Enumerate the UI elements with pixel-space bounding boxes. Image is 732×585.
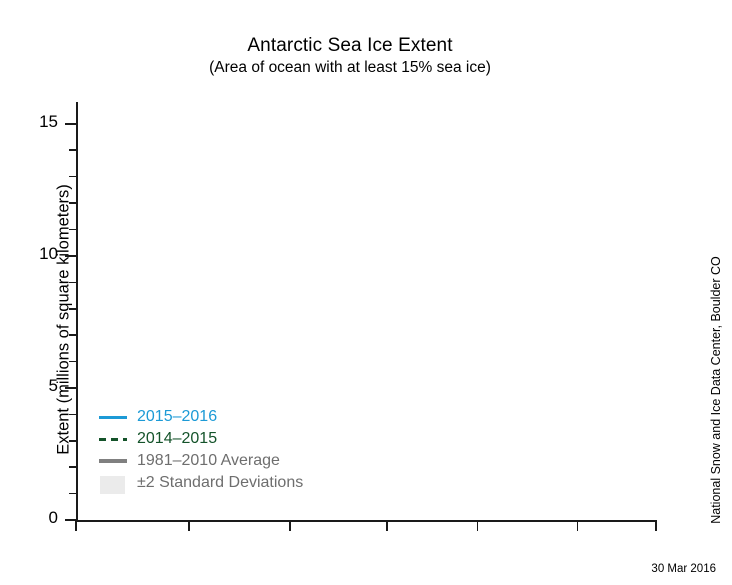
y-tick-label-15: 15 [18, 112, 58, 132]
y-tick-9 [69, 282, 76, 284]
x-axis-line [76, 520, 657, 522]
y-tick-10 [65, 255, 76, 257]
y-tick-13 [69, 176, 76, 178]
x-tick-3 [386, 520, 388, 531]
legend-swatch-band [98, 475, 128, 491]
y-tick-14 [69, 149, 76, 151]
y-tick-1 [69, 493, 76, 495]
y-tick-6 [69, 361, 76, 363]
y-axis-line [76, 102, 78, 520]
data-source-credit: National Snow and Ice Data Center, Bould… [709, 225, 723, 555]
y-tick-12 [69, 202, 76, 204]
chart-container: Antarctic Sea Ice Extent (Area of ocean … [0, 0, 732, 585]
y-tick-5 [65, 387, 76, 389]
legend-item-2015-2016: 2015–2016 [98, 406, 303, 428]
plot-area: 051015 2015–2016 2014–2015 [76, 108, 656, 520]
chart-legend: 2015–2016 2014–2015 1981–2010 Average ±2… [98, 406, 303, 494]
legend-item-average: 1981–2010 Average [98, 450, 303, 472]
legend-swatch-solid-gray [98, 453, 128, 469]
legend-label-average: 1981–2010 Average [137, 452, 280, 470]
x-tick-2 [289, 520, 291, 531]
x-tick-1 [188, 520, 190, 531]
y-tick-11 [69, 229, 76, 231]
y-tick-3 [69, 440, 76, 442]
date-stamp: 30 Mar 2016 [651, 563, 716, 575]
x-tick-4 [477, 520, 479, 531]
y-tick-4 [69, 414, 76, 416]
legend-swatch-dashed-green [98, 431, 128, 447]
x-tick-0 [75, 520, 77, 531]
legend-swatch-solid-blue [98, 409, 128, 425]
chart-title: Antarctic Sea Ice Extent [0, 34, 700, 58]
legend-item-stddev: ±2 Standard Deviations [98, 472, 303, 494]
legend-label-stddev: ±2 Standard Deviations [137, 474, 303, 492]
y-tick-15 [65, 123, 76, 125]
legend-item-2014-2015: 2014–2015 [98, 428, 303, 450]
y-tick-7 [69, 334, 76, 336]
legend-label-2014-2015: 2014–2015 [137, 430, 217, 448]
y-tick-label-10: 10 [18, 244, 58, 264]
x-tick-5 [577, 520, 579, 531]
x-tick-6 [655, 520, 657, 531]
y-tick-label-0: 0 [18, 508, 58, 528]
legend-label-2015-2016: 2015–2016 [137, 408, 217, 426]
chart-subtitle: (Area of ocean with at least 15% sea ice… [0, 58, 700, 78]
y-tick-label-5: 5 [18, 376, 58, 396]
chart-title-block: Antarctic Sea Ice Extent (Area of ocean … [0, 34, 700, 78]
y-tick-2 [69, 466, 76, 468]
y-tick-8 [69, 308, 76, 310]
